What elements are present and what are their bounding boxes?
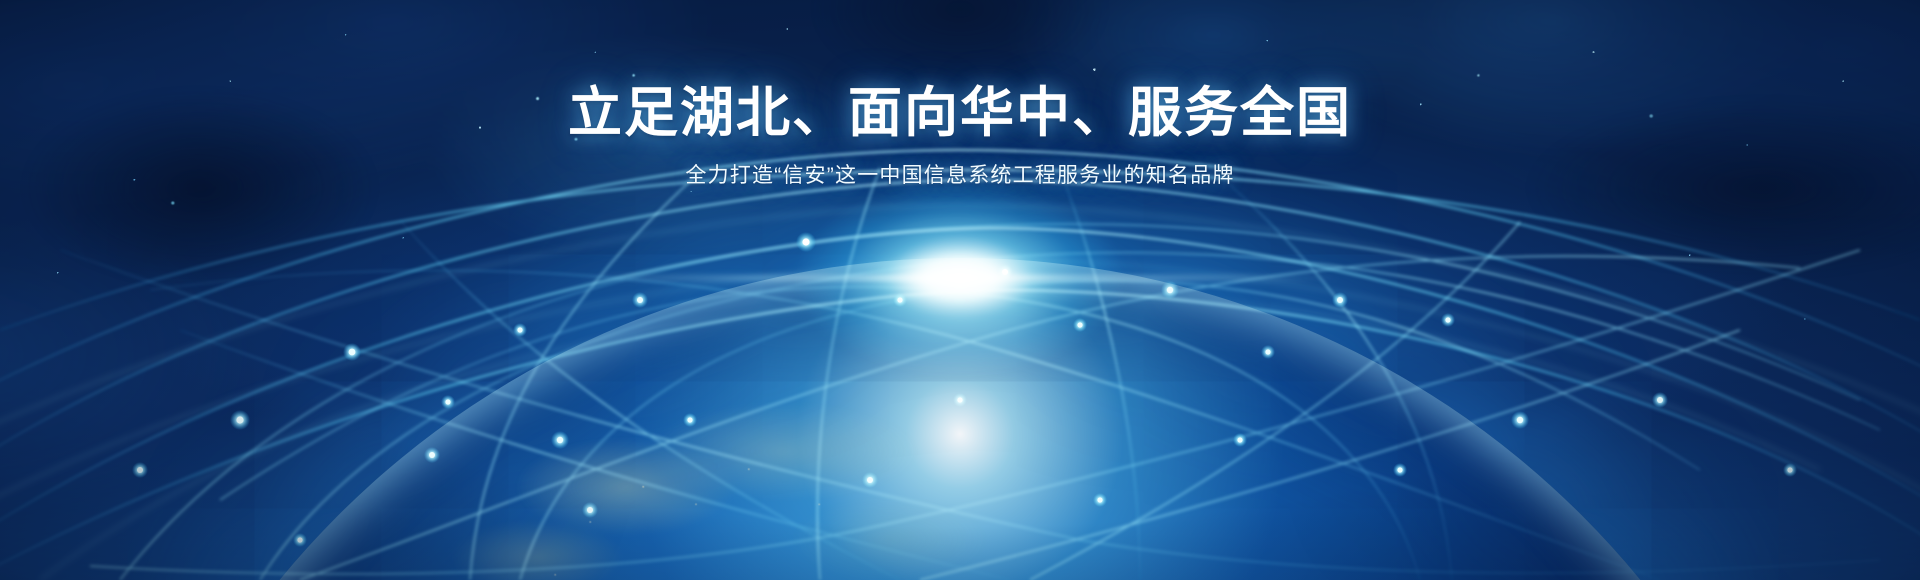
hero-banner: 立足湖北、面向华中、服务全国 全力打造“信安”这一中国信息系统工程服务业的知名品…	[0, 0, 1920, 580]
global-network-arcs	[0, 0, 1920, 580]
